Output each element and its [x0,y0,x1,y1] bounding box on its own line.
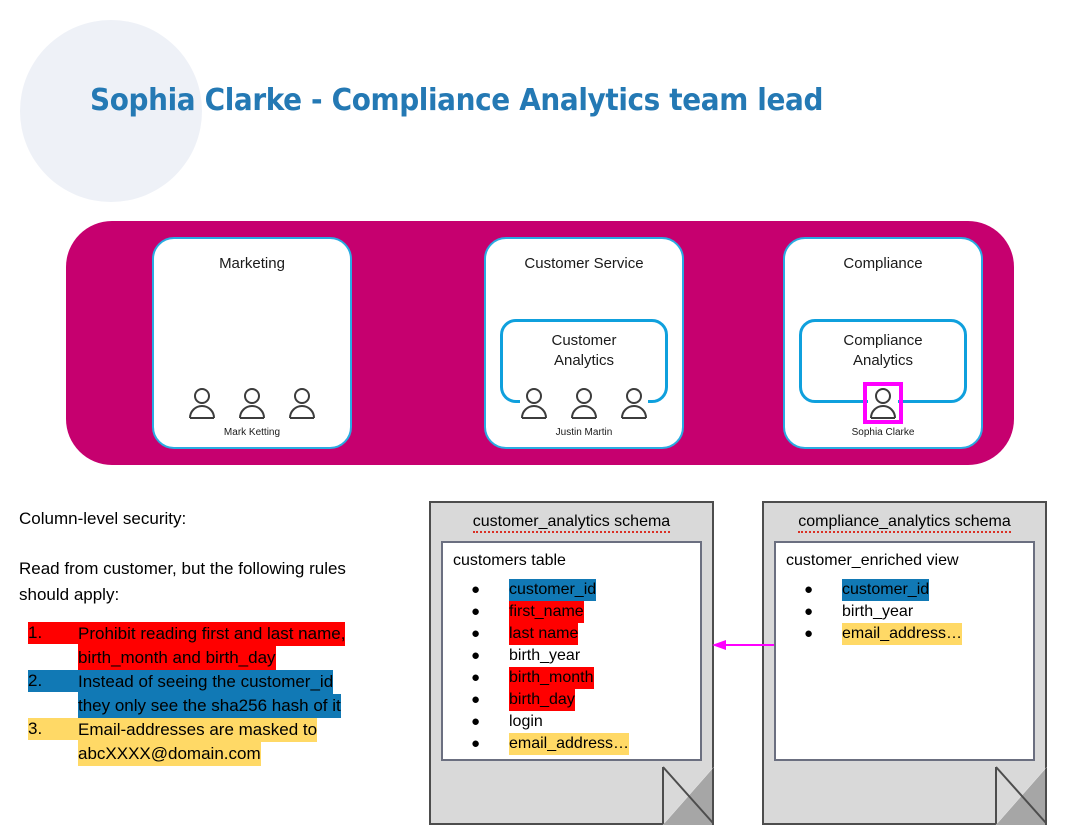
security-rule-item: 1. Prohibit reading first and last name,… [28,622,388,670]
security-rule-item: 3. Email-addresses are masked to abcXXXX… [28,718,388,766]
department-card-marketing[interactable]: Marketing Mark Ketting [152,237,352,449]
schema-field: ●birth_year [798,601,1027,623]
schema-field-list: ●customer_id ●first_name ●last name ●bir… [465,579,694,755]
bullet-icon: ● [471,689,480,711]
schema-object-name: customers table [453,552,566,570]
security-heading: Column-level security: [19,509,186,529]
department-card-customer-service[interactable]: Customer Service Customer Analytics Just… [484,237,684,449]
bullet-icon: ● [471,623,480,645]
bullet-icon: ● [471,667,480,689]
schema-connector-arrow [712,639,774,651]
department-title: Marketing [154,255,350,272]
analytics-team-label: Compliance Analytics [802,331,964,371]
person-icon [569,387,599,419]
rule-line: Prohibit reading first and last name, [78,622,345,646]
rule-line: abcXXXX@domain.com [78,742,261,766]
rule-line: Email-addresses are masked to [78,718,317,742]
security-rule-item: 2. Instead of seeing the customer_id the… [28,670,388,718]
person-icon [287,387,317,419]
schema-field: ●birth_day [465,689,694,711]
schema-field: ●last name [465,623,694,645]
schema-field: ●birth_year [465,645,694,667]
bullet-icon: ● [804,601,813,623]
field-name: birth_month [509,667,594,689]
schema-field: ●email_address… [798,623,1027,645]
person-icon [519,387,549,419]
schema-object-panel: customers table ●customer_id ●first_name… [441,541,702,761]
field-name: last name [509,623,578,645]
schema-title: customer_analytics schema [429,513,714,531]
schema-title: compliance_analytics schema [762,513,1047,531]
bullet-icon: ● [804,623,813,645]
bullet-icon: ● [471,601,480,623]
department-title: Compliance [785,255,981,272]
bullet-icon: ● [471,579,480,601]
schema-field: ●first_name [465,601,694,623]
analytics-team-label: Customer Analytics [503,331,665,371]
person-icon [237,387,267,419]
department-owner-name: Mark Ketting [154,427,350,438]
bullet-icon: ● [804,579,813,601]
rule-number: 1. [28,622,78,644]
rule-line: they only see the sha256 hash of it [78,694,341,718]
bullet-icon: ● [471,711,480,733]
field-name: birth_year [842,601,913,623]
people-group [154,387,350,419]
person-icon-highlighted[interactable] [868,387,898,419]
bullet-icon: ● [471,645,480,667]
field-name: email_address… [509,733,629,755]
department-owner-name: Justin Martin [486,427,682,438]
people-group [486,387,682,419]
field-name: login [509,711,543,733]
field-name: customer_id [842,579,929,601]
department-owner-name: Sophia Clarke [785,427,981,438]
schema-object-panel: customer_enriched view ●customer_id ●bir… [774,541,1035,761]
schema-field: ●birth_month [465,667,694,689]
rule-number: 2. [28,670,78,692]
people-group [785,387,981,419]
schema-document-customer-analytics[interactable]: customer_analytics schema customers tabl… [429,501,714,825]
field-name: first_name [509,601,584,623]
rule-number: 3. [28,718,78,740]
field-name: email_address… [842,623,962,645]
schema-field: ●customer_id [798,579,1027,601]
schema-object-name: customer_enriched view [786,552,959,570]
field-name: customer_id [509,579,596,601]
department-card-compliance[interactable]: Compliance Compliance Analytics Sophia C… [783,237,983,449]
schema-field: ●customer_id [465,579,694,601]
rule-line: birth_month and birth_day [78,646,276,670]
person-icon [187,387,217,419]
schema-field-list: ●customer_id ●birth_year ●email_address… [798,579,1027,645]
field-name: birth_day [509,689,575,711]
schema-field: ●login [465,711,694,733]
department-title: Customer Service [486,255,682,272]
security-intro-text: Read from customer, but the following ru… [19,556,399,608]
schema-field: ●email_address… [465,733,694,755]
field-name: birth_year [509,645,580,667]
rule-line: Instead of seeing the customer_id [78,670,333,694]
bullet-icon: ● [471,733,480,755]
page-title: Sophia Clarke - Compliance Analytics tea… [90,83,823,118]
security-rules-list: 1. Prohibit reading first and last name,… [28,622,388,766]
schema-document-compliance-analytics[interactable]: compliance_analytics schema customer_enr… [762,501,1047,825]
person-icon [619,387,649,419]
